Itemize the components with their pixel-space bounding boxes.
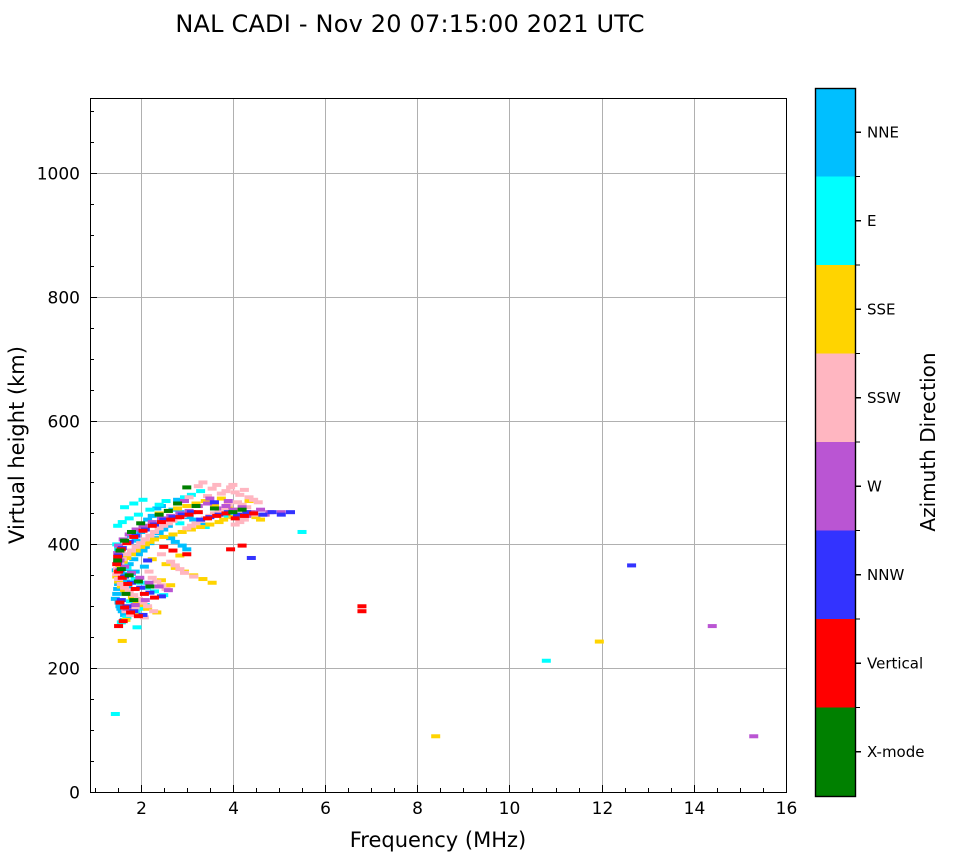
data-point [113, 558, 122, 562]
data-point [155, 513, 164, 517]
data-point [357, 604, 366, 608]
data-point [178, 544, 187, 548]
data-point [198, 577, 207, 581]
data-point [175, 515, 184, 519]
colorbar-segment-e[interactable] [815, 177, 855, 266]
colorbar-segment-vertical[interactable] [815, 619, 855, 708]
data-point [231, 516, 240, 520]
x-tick-label: 8 [412, 799, 423, 819]
y-tick-label: 1000 [37, 165, 80, 185]
data-point [127, 549, 136, 553]
x-tick-label: 16 [776, 799, 798, 819]
y-axis-label: Virtual height (km) [5, 346, 29, 544]
data-point [148, 524, 157, 528]
data-point [150, 596, 159, 600]
data-point [157, 552, 166, 556]
colorbar-segment-sse[interactable] [815, 265, 855, 354]
data-point [226, 547, 235, 551]
colorbar: NNEESSESSWWNNWVerticalX-modeAzimuth Dire… [815, 88, 940, 797]
data-point [205, 497, 214, 501]
y-tick-label: 800 [48, 289, 80, 309]
series-sse [112, 497, 604, 739]
data-point [182, 485, 191, 489]
data-point [166, 583, 175, 587]
data-point [173, 506, 182, 510]
y-tick-label: 600 [48, 413, 80, 433]
data-point [145, 570, 154, 574]
data-point [129, 598, 138, 602]
data-point [141, 598, 150, 602]
data-point [162, 499, 171, 503]
data-point [231, 523, 240, 527]
data-point [256, 518, 265, 522]
data-point [132, 545, 141, 549]
data-point [171, 540, 180, 544]
data-point [118, 520, 127, 524]
data-point [119, 619, 128, 623]
data-point [155, 503, 164, 507]
colorbar-segment-nne[interactable] [815, 88, 855, 177]
data-point [215, 520, 224, 524]
data-point [168, 532, 177, 536]
x-tick-label: 6 [320, 799, 331, 819]
data-point [112, 592, 121, 596]
y-tick-label: 0 [69, 784, 80, 804]
data-point [159, 535, 168, 539]
data-point [134, 513, 143, 517]
data-point [171, 563, 180, 567]
data-point [228, 510, 237, 514]
data-point [145, 508, 154, 512]
data-point [595, 640, 604, 644]
data-point [122, 552, 131, 556]
data-point [118, 639, 127, 643]
data-point [112, 562, 121, 566]
data-point [238, 544, 247, 548]
x-tick-label: 12 [592, 799, 614, 819]
x-tick-label: 10 [499, 799, 521, 819]
colorbar-segment-nnw[interactable] [815, 531, 855, 620]
colorbar-label-sse: SSE [867, 300, 896, 318]
data-point [192, 504, 201, 508]
data-point [298, 530, 307, 534]
colorbar-label-ssw: SSW [867, 389, 901, 407]
data-point [120, 539, 129, 543]
data-point [143, 604, 152, 608]
ionogram-plot: 24681012141602004006008001000 Frequency … [0, 0, 958, 857]
data-point [141, 537, 150, 541]
data-point [145, 534, 154, 538]
data-point [131, 603, 140, 607]
colorbar-label-x-mode: X-mode [867, 743, 924, 761]
data-points [111, 480, 758, 738]
x-tick-label: 2 [136, 799, 147, 819]
data-point [152, 580, 161, 584]
data-point [134, 580, 143, 584]
data-point [194, 484, 203, 488]
data-point [166, 518, 175, 522]
data-point [189, 575, 198, 579]
data-point [542, 659, 551, 663]
data-point [749, 734, 758, 738]
data-point [212, 483, 221, 487]
data-point [139, 529, 148, 533]
figure-root: NAL CADI - Nov 20 07:15:00 2021 UTC 2468… [0, 0, 958, 857]
data-point [228, 483, 237, 487]
data-point [120, 606, 129, 610]
data-point [113, 524, 122, 528]
data-point [120, 505, 129, 509]
data-point [247, 556, 256, 560]
data-point [256, 508, 265, 512]
data-point [431, 734, 440, 738]
data-point [175, 567, 184, 571]
data-point [178, 530, 187, 534]
data-point [185, 495, 194, 499]
data-point [164, 509, 173, 513]
data-point [115, 601, 124, 605]
data-point [131, 587, 140, 591]
data-point [127, 530, 136, 534]
series-e [111, 489, 551, 716]
gridlines [90, 98, 786, 792]
data-point [125, 516, 134, 520]
colorbar-label-nnw: NNW [867, 566, 904, 584]
data-point [148, 576, 157, 580]
data-point [135, 576, 144, 580]
data-point [210, 506, 219, 510]
data-point [212, 514, 221, 518]
data-point [198, 480, 207, 484]
data-point [180, 571, 189, 575]
colorbar-segment-x-mode[interactable] [815, 708, 855, 797]
data-point [182, 504, 191, 508]
data-point [120, 586, 129, 590]
data-point [627, 563, 636, 567]
data-point [208, 487, 217, 491]
colorbar-segment-w[interactable] [815, 442, 855, 531]
data-point [115, 549, 124, 553]
colorbar-segment-ssw[interactable] [815, 354, 855, 443]
data-point [357, 609, 366, 613]
data-point [114, 624, 123, 628]
data-point [113, 555, 122, 559]
data-point [224, 499, 233, 503]
data-point [133, 625, 142, 629]
colorbar-label-e: E [867, 212, 876, 230]
data-point [150, 530, 159, 534]
colorbar-title: Azimuth Direction [916, 352, 940, 531]
colorbar-label-w: W [867, 477, 882, 495]
data-point [254, 500, 263, 504]
data-point [155, 584, 164, 588]
data-point [123, 582, 132, 586]
data-point [240, 488, 249, 492]
data-point [182, 547, 191, 551]
data-point [235, 493, 244, 497]
data-point [143, 558, 152, 562]
data-point [194, 510, 203, 514]
x-tick-label: 4 [228, 799, 239, 819]
data-point [129, 502, 138, 506]
data-point [126, 610, 135, 614]
axes-frame [91, 99, 787, 793]
data-point [203, 516, 212, 520]
data-point [111, 712, 120, 716]
data-point [125, 573, 134, 577]
data-point [210, 500, 219, 504]
data-point [136, 521, 145, 525]
data-point [268, 510, 277, 514]
axis-ticks [90, 112, 787, 793]
data-point [145, 581, 154, 585]
data-point [185, 513, 194, 517]
data-point [129, 593, 138, 597]
data-point [140, 592, 149, 596]
data-point [238, 508, 247, 512]
data-point [136, 541, 145, 545]
data-point [208, 581, 217, 585]
data-point [708, 624, 717, 628]
data-point [173, 502, 182, 506]
data-point [258, 513, 267, 517]
data-point [134, 614, 143, 618]
data-point [217, 492, 226, 496]
data-point [159, 545, 168, 549]
colorbar-label-vertical: Vertical [867, 654, 923, 672]
data-point [168, 549, 177, 553]
y-tick-label: 400 [48, 536, 80, 556]
data-point [286, 510, 295, 514]
colorbar-label-nne: NNE [867, 123, 899, 141]
data-point [166, 560, 175, 564]
x-tick-label: 14 [684, 799, 706, 819]
data-point [149, 609, 158, 613]
y-tick-label: 200 [48, 660, 80, 680]
data-point [140, 565, 149, 569]
series-w [113, 497, 758, 739]
data-point [277, 513, 286, 517]
data-point [164, 588, 173, 592]
data-point [139, 498, 148, 502]
data-point [196, 525, 205, 529]
data-point [182, 552, 191, 556]
data-point [240, 514, 249, 518]
data-point [205, 523, 214, 527]
data-point [145, 584, 154, 588]
data-point [221, 504, 230, 508]
data-point [117, 567, 126, 571]
data-point [129, 535, 138, 539]
data-point [196, 489, 205, 493]
data-point [182, 526, 191, 530]
x-axis-label: Frequency (MHz) [350, 828, 526, 852]
data-point [121, 592, 130, 596]
data-point [157, 520, 166, 524]
data-point [249, 511, 258, 515]
